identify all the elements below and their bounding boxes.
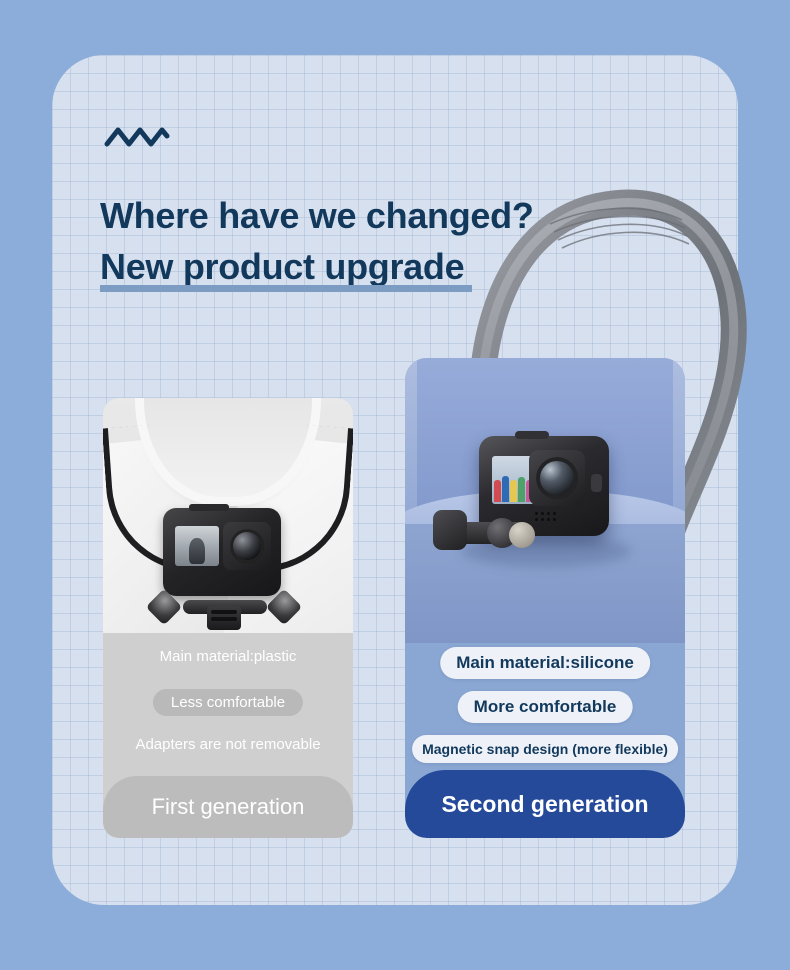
action-camera-gen1: [163, 508, 281, 596]
second-generation-specs: Main material:silicone More comfortable …: [405, 643, 685, 773]
title-line-2: New product upgrade: [100, 246, 464, 287]
zigzag-wave-icon: [104, 122, 170, 150]
camera-front-screen: [175, 526, 219, 566]
spec-material-badge: Main material:silicone: [440, 647, 650, 679]
second-generation-photo: [405, 358, 685, 643]
second-generation-banner: Second generation: [405, 770, 685, 838]
camera-side-button: [591, 474, 602, 492]
spec-magnetic-badge: Magnetic snap design (more flexible): [412, 735, 678, 763]
first-generation-card[interactable]: Main material:plastic Less comfortable A…: [103, 398, 353, 838]
first-generation-banner: First generation: [103, 776, 353, 838]
snap-magnet-disc: [509, 522, 535, 548]
spec-comfort-badge: Less comfortable: [153, 689, 303, 716]
screen-subject: [189, 538, 205, 564]
spec-comfort-badge: More comfortable: [458, 691, 633, 723]
first-generation-photo: [103, 398, 353, 633]
title-line-1: Where have we changed?: [100, 198, 620, 249]
second-generation-card[interactable]: Main material:silicone More comfortable …: [405, 358, 685, 838]
snap-block: [433, 510, 467, 550]
title-underline: [100, 285, 472, 292]
promo-banner: Where have we changed? New product upgra…: [0, 0, 790, 970]
camera-adapters-gen1: [149, 588, 299, 632]
page-title: Where have we changed? New product upgra…: [100, 198, 620, 285]
adapter-knob-right: [266, 589, 303, 626]
title-line-2-wrap: New product upgrade: [100, 249, 464, 286]
adapter-clip: [207, 606, 241, 630]
camera-lens: [536, 457, 578, 499]
magnetic-snap-mount: [433, 508, 551, 564]
camera-top-button: [189, 504, 229, 511]
spec-material: Main material:plastic: [103, 648, 353, 665]
camera-top-button: [515, 431, 549, 439]
spec-adapters: Adapters are not removable: [103, 736, 353, 753]
adapter-knob-left: [146, 589, 183, 626]
camera-lens: [230, 529, 264, 563]
first-generation-specs: Main material:plastic Less comfortable A…: [103, 633, 353, 776]
